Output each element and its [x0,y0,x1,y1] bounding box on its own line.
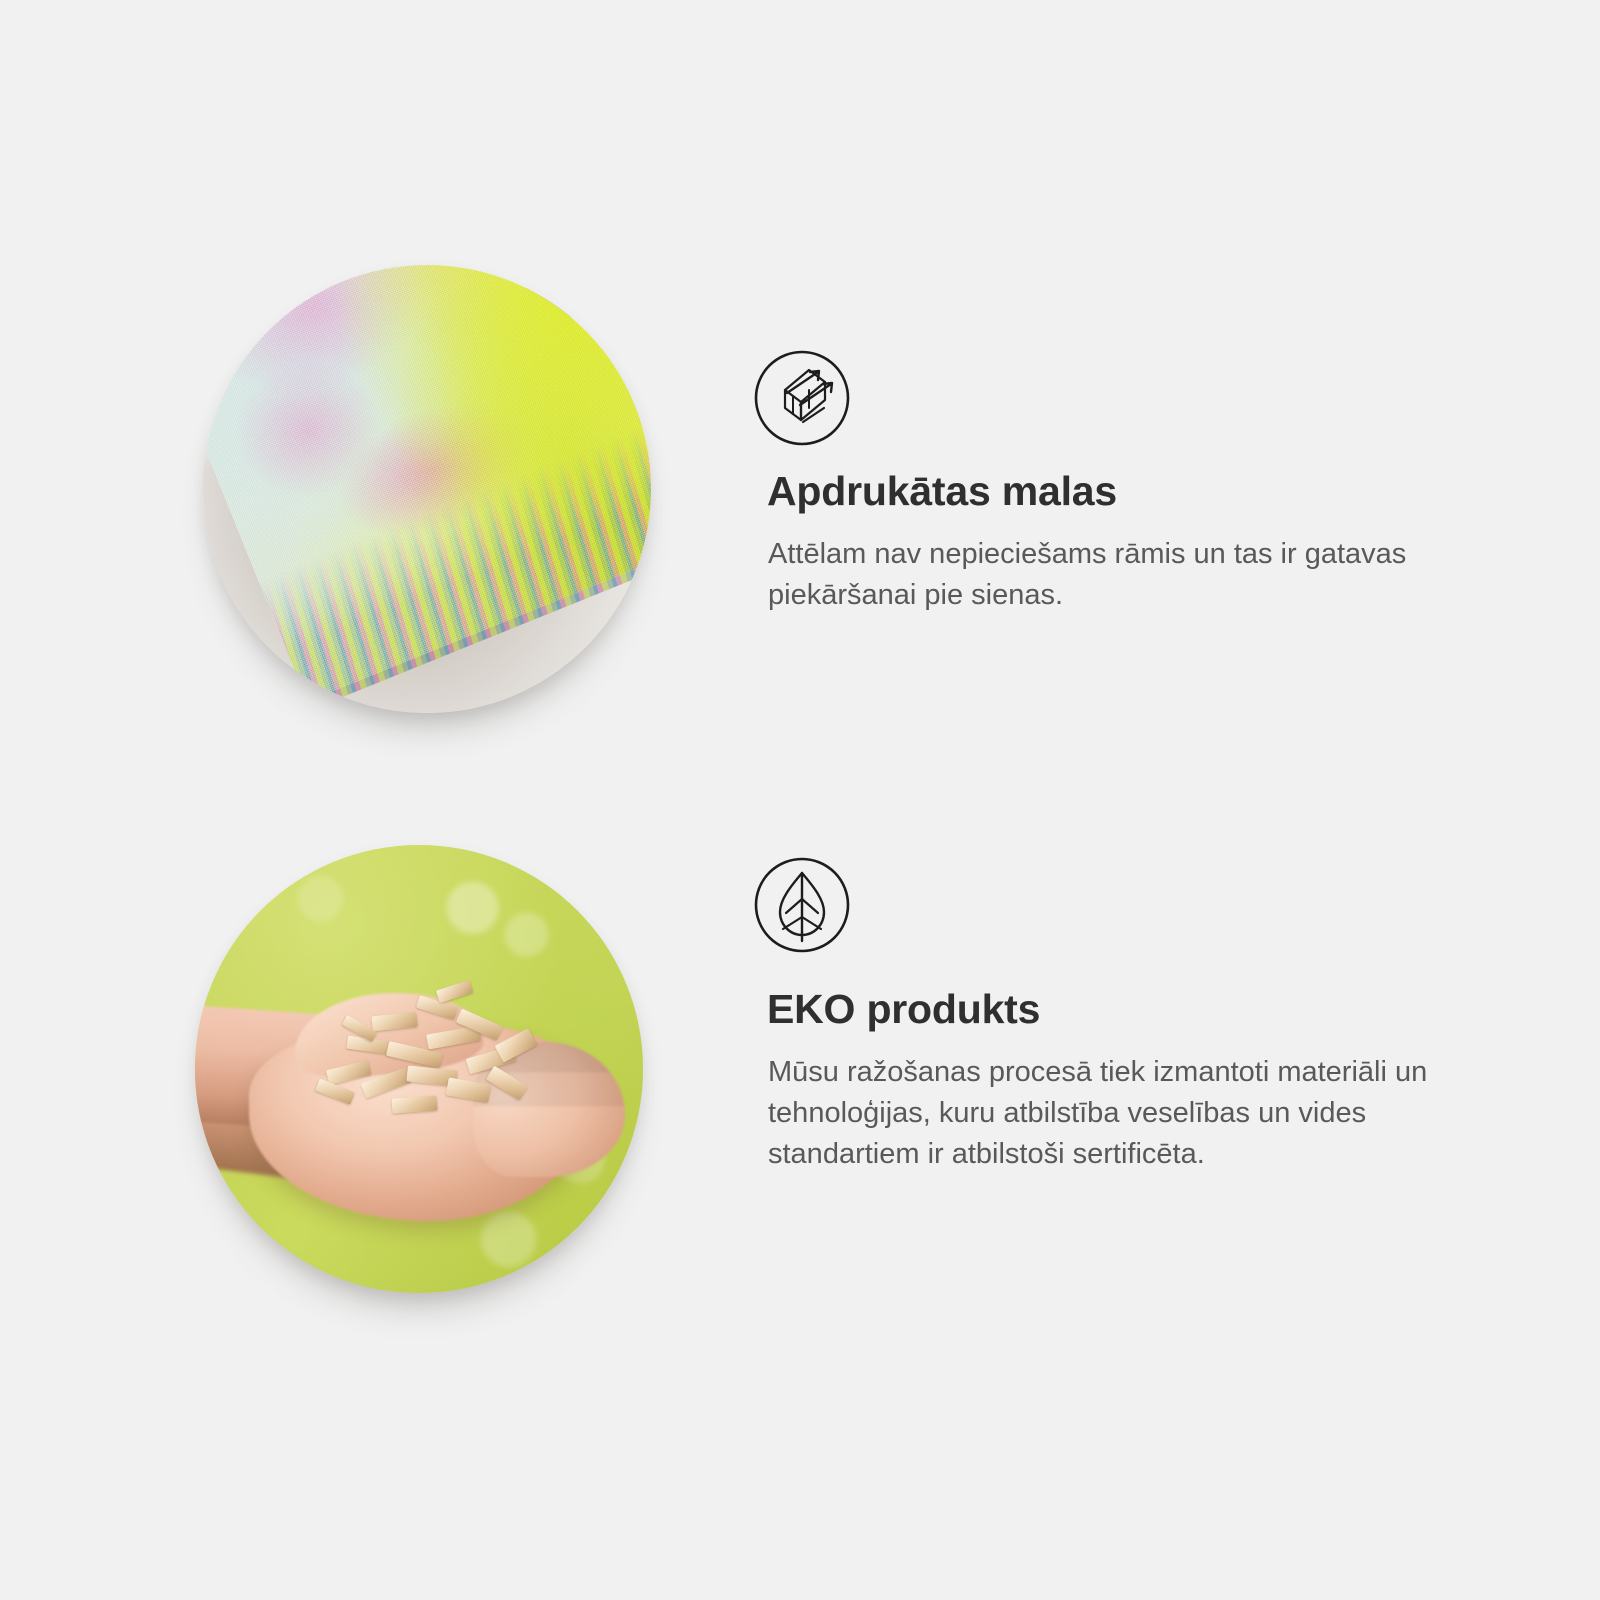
wood-chip-pile [311,975,562,1136]
product-features-page: Apdrukātas malas Attēlam nav nepieciešam… [0,0,1600,1600]
feature-title: Apdrukātas malas [767,468,1117,515]
feature-printed-edges: Apdrukātas malas Attēlam nav nepieciešam… [0,0,1600,800]
feature-eco-product: EKO produkts Mūsu ražošanas procesā tiek… [0,800,1600,1600]
printed-edges-icon [752,348,852,448]
feature-description: Mūsu ražošanas procesā tiek izmantoti ma… [768,1052,1478,1176]
feature-title: EKO produkts [767,986,1040,1033]
leaf-icon [752,855,852,955]
feature-description: Attēlam nav nepieciešams rāmis un tas ir… [768,534,1478,616]
canvas-corner-photo [203,265,651,713]
wood-chips-in-hands-photo [195,845,643,1293]
canvas-corner-photo-clip [203,265,651,713]
wood-chips-photo-clip [195,845,643,1293]
